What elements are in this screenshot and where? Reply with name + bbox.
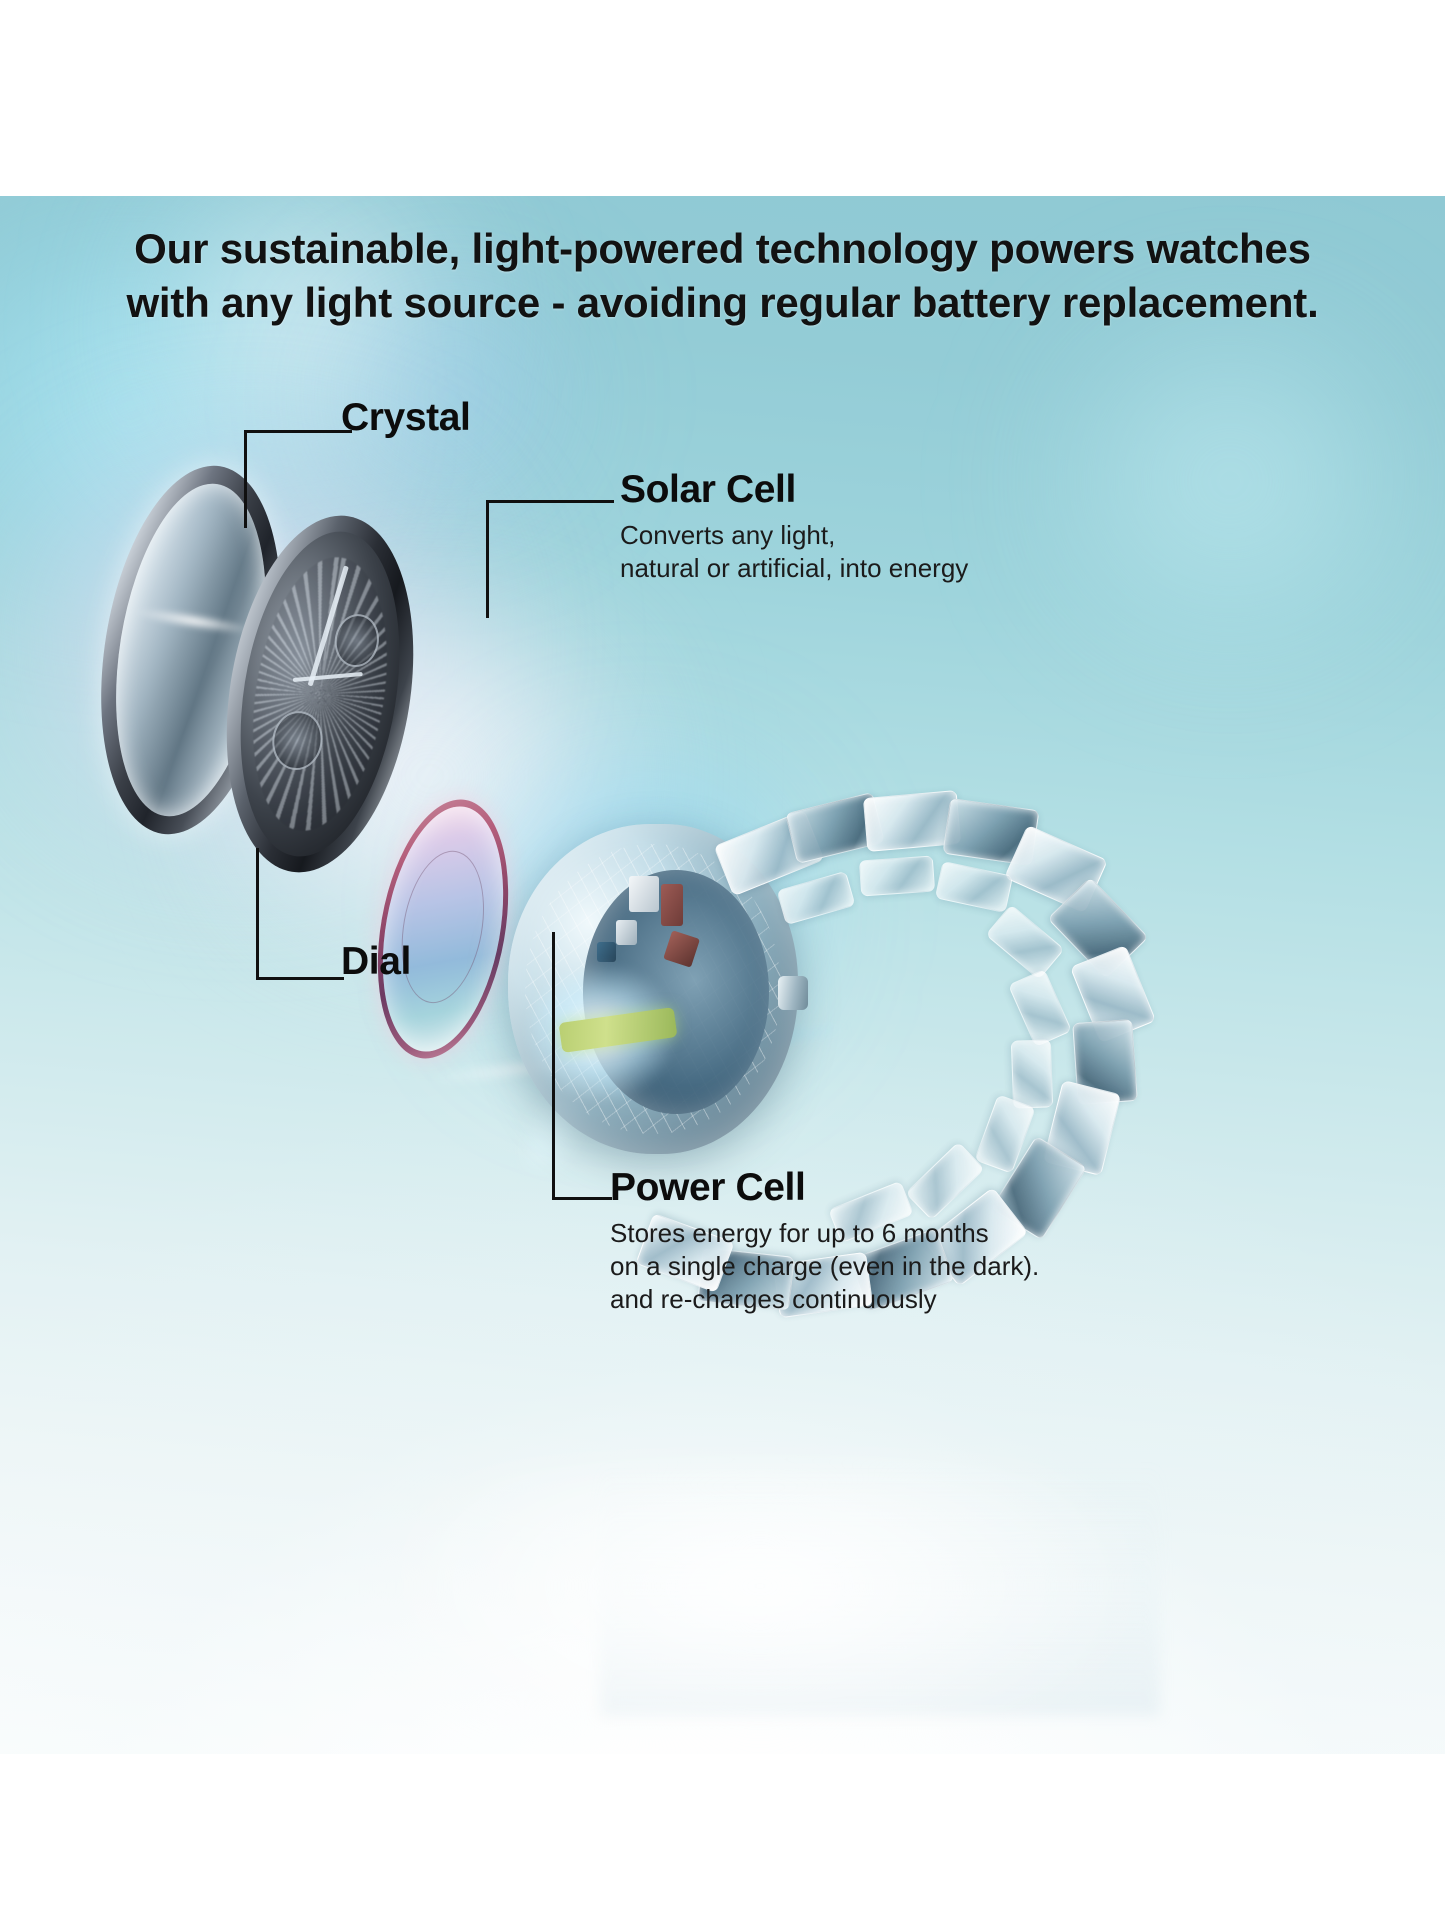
callout-solar-cell: Solar Cell Converts any light, natural o… xyxy=(620,470,968,585)
callout-title-power-cell: Power Cell xyxy=(610,1168,1039,1207)
callout-power-cell: Power Cell Stores energy for up to 6 mon… xyxy=(610,1168,1039,1315)
bracelet-link-inner xyxy=(1011,1039,1053,1108)
artwork-band xyxy=(0,196,1445,1754)
leader-segment-vertical xyxy=(244,430,247,528)
bracelet-link-inner xyxy=(1008,969,1072,1047)
leader-line-power-cell xyxy=(552,932,614,1200)
headline-line-2: with any light source - avoiding regular… xyxy=(0,276,1445,330)
bloom-light-4 xyxy=(1020,316,1440,646)
infographic-stage: Our sustainable, light-powered technolog… xyxy=(0,0,1445,1927)
movement-component-1 xyxy=(629,876,658,912)
watch-part-bracelet xyxy=(660,796,1160,1496)
leader-segment-vertical xyxy=(256,848,259,978)
leader-segment-vertical xyxy=(486,500,489,618)
headline-line-1: Our sustainable, light-powered technolog… xyxy=(0,222,1445,276)
callout-crystal: Crystal xyxy=(341,398,470,437)
callout-title-crystal: Crystal xyxy=(341,398,470,437)
callout-description-solar-cell: Converts any light, natural or artificia… xyxy=(620,519,968,585)
callout-title-dial: Dial xyxy=(341,942,411,981)
leader-segment-horizontal xyxy=(552,1197,612,1200)
bracelet-link-inner xyxy=(935,861,1013,913)
bracelet-link-inner xyxy=(859,855,935,896)
callout-title-solar-cell: Solar Cell xyxy=(620,470,968,509)
leader-segment-horizontal xyxy=(244,430,352,433)
floor-glow xyxy=(380,1466,1140,1754)
leader-segment-horizontal xyxy=(486,500,614,503)
leader-segment-horizontal xyxy=(256,977,344,980)
leader-line-crystal xyxy=(244,430,354,530)
leader-segment-vertical xyxy=(552,932,555,1198)
callout-description-power-cell: Stores energy for up to 6 months on a si… xyxy=(610,1217,1039,1315)
bracelet-link-inner xyxy=(776,871,855,925)
callout-dial: Dial xyxy=(341,942,411,981)
movement-component-2 xyxy=(616,920,637,945)
leader-line-solar-cell xyxy=(486,500,616,620)
page-title: Our sustainable, light-powered technolog… xyxy=(0,222,1445,330)
leader-line-dial xyxy=(256,848,346,980)
